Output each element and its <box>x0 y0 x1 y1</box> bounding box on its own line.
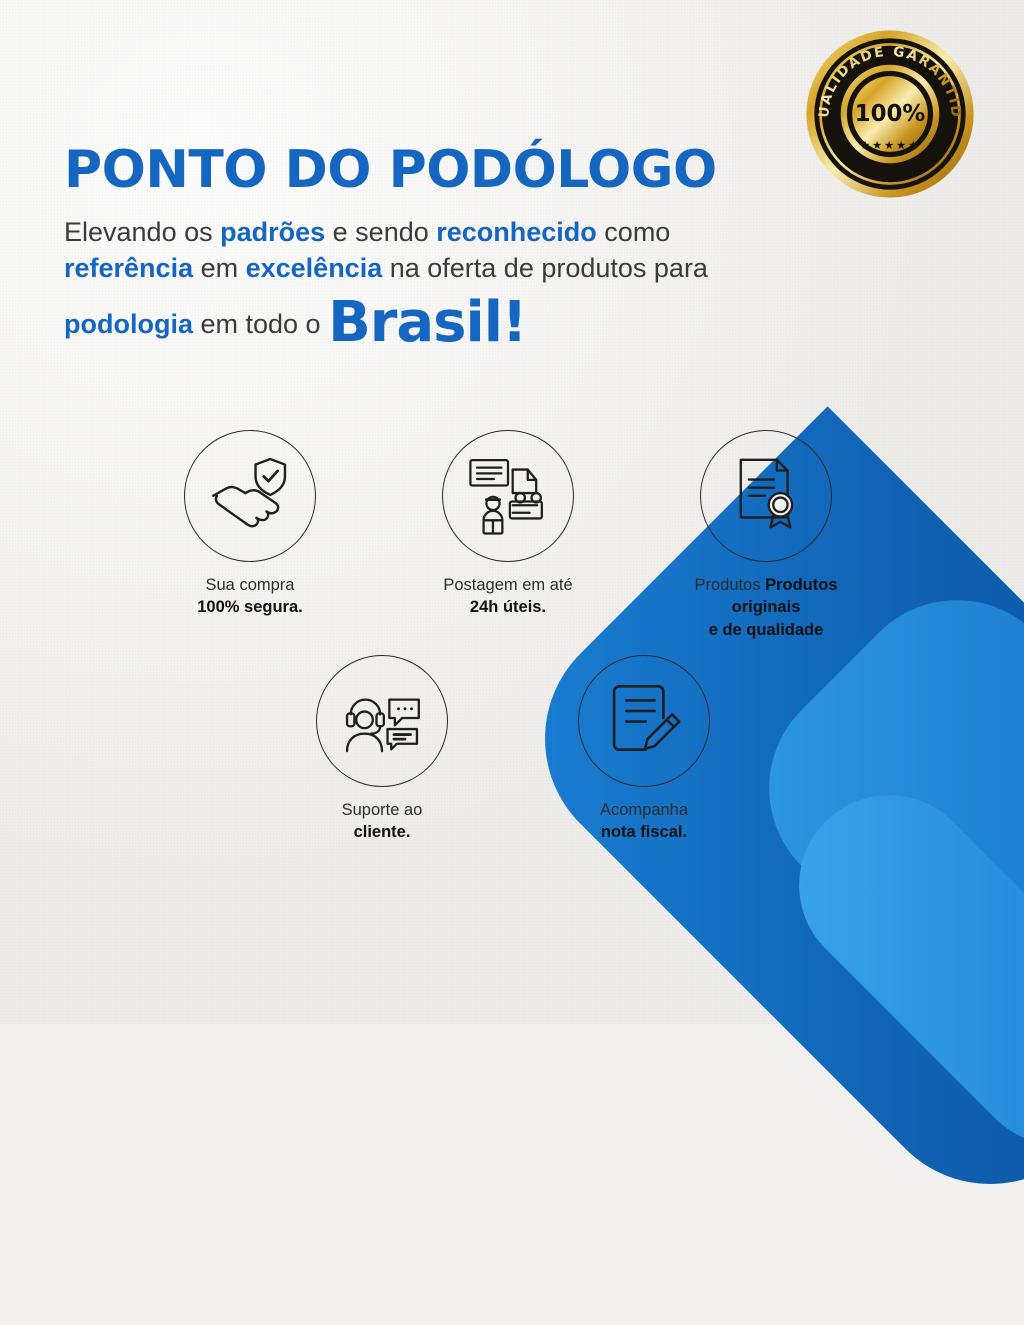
tagline-l1e: como <box>597 217 671 247</box>
feature-caption-line2: 100% segura. <box>197 598 302 616</box>
feature-caption-line2: cliente. <box>354 823 411 841</box>
tagline: Elevando os padrões e sendo reconhecido … <box>64 215 864 360</box>
feature-row-2: Suporte ao cliente. <box>282 655 870 844</box>
tagline-brasil: Brasil! <box>328 290 526 355</box>
feature-caption-line1-strong: Produtos originais <box>732 576 838 616</box>
feature-list: Sua compra 100% segura. <box>150 430 870 843</box>
feature-icon-circle <box>184 430 316 562</box>
feature-icon-circle <box>700 430 832 562</box>
feature-item: Produtos Produtos originais e de qualida… <box>666 430 866 641</box>
tagline-l2a: referência <box>64 253 193 283</box>
page-title: PONTO DO PODÓLOGO <box>64 140 717 200</box>
handshake-shield-icon <box>204 448 296 545</box>
feature-item: Postagem em até 24h úteis. <box>408 430 608 641</box>
tagline-l1b: padrões <box>220 217 325 247</box>
certificate-award-icon <box>721 449 811 544</box>
feature-caption: Produtos Produtos originais e de qualida… <box>666 574 866 641</box>
tagline-l1a: Elevando os <box>64 217 220 247</box>
feature-icon-circle <box>316 655 448 787</box>
tagline-l1d: reconhecido <box>436 217 597 247</box>
feature-row-1: Sua compra 100% segura. <box>150 430 870 641</box>
tagline-l3a: podologia <box>64 309 193 339</box>
feature-caption-line1: Suporte ao <box>342 801 423 819</box>
feature-caption: Sua compra 100% segura. <box>197 574 302 619</box>
delivery-truck-icon <box>461 447 555 546</box>
tagline-l2c: excelência <box>246 253 383 283</box>
quality-seal: QUALIDADE GARANTIDA 100% ★★★★★ <box>802 26 978 202</box>
feature-caption-line1: Produtos Produtos originais <box>694 576 837 616</box>
feature-item: Suporte ao cliente. <box>282 655 482 844</box>
seal-stars: ★★★★★ <box>860 138 920 152</box>
feature-icon-circle <box>578 655 710 787</box>
feature-item: Acompanha nota fiscal. <box>544 655 744 844</box>
feature-caption-line1: Acompanha <box>600 801 688 819</box>
tagline-l2d: na oferta de produtos para <box>382 253 708 283</box>
feature-caption-line2: e de qualidade <box>709 621 824 639</box>
feature-item: Sua compra 100% segura. <box>150 430 350 641</box>
feature-caption: Suporte ao cliente. <box>342 799 423 844</box>
headset-support-icon <box>336 672 428 769</box>
feature-caption-line1: Sua compra <box>206 576 295 594</box>
feature-caption: Acompanha nota fiscal. <box>600 799 688 844</box>
poster-canvas: QUALIDADE GARANTIDA 100% ★★★★★ PONTO DO … <box>0 0 1024 1024</box>
tagline-l2b: em <box>193 253 246 283</box>
tagline-l1c: e sendo <box>325 217 436 247</box>
feature-caption-line2: nota fiscal. <box>601 823 687 841</box>
seal-percent: 100% <box>855 101 926 127</box>
feature-caption: Postagem em até 24h úteis. <box>443 574 572 619</box>
invoice-pencil-icon <box>600 674 688 767</box>
feature-caption-line2: 24h úteis. <box>470 598 546 616</box>
feature-icon-circle <box>442 430 574 562</box>
feature-caption-line1: Postagem em até <box>443 576 572 594</box>
tagline-l3b: em todo o <box>193 309 328 339</box>
